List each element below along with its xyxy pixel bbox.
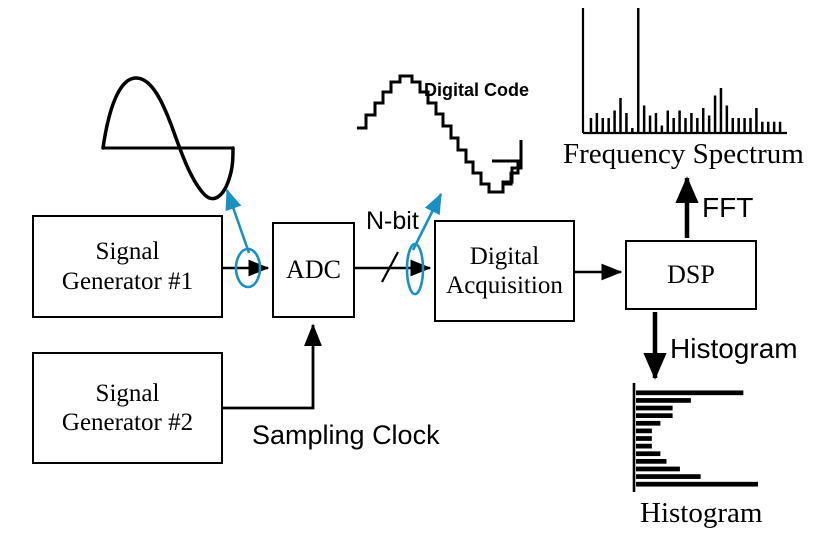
label-histogram-caption: Histogram [640,497,762,530]
histogram-bar [636,421,660,426]
spectrum-bar [672,118,675,133]
spectrum-bar [655,113,658,133]
block-label-line2: Acquisition [446,271,563,301]
spectrum-bar [743,118,746,133]
histogram-bar [636,451,660,456]
spectrum-bar [637,8,640,133]
block-label-line2: Generator #2 [62,408,193,438]
histogram-bars [636,390,758,486]
block-dsp[interactable]: DSP [625,240,757,310]
spectrum-bar [613,111,616,134]
histogram-bar [636,436,652,441]
histogram-bar [636,444,652,449]
annotation-analog-signal[interactable] [227,190,260,287]
histogram-bar [636,467,680,472]
block-label-line1: Signal [96,379,160,409]
block-label-line2: Generator #1 [62,267,193,297]
block-digital-acquisition[interactable]: Digital Acquisition [434,220,575,322]
histogram-bar [636,429,652,434]
spectrum-bar [749,118,752,133]
block-label-line1: ADC [286,255,341,286]
frequency-spectrum-chart [583,8,787,133]
spectrum-bar [726,106,729,134]
histogram-chart [634,383,758,492]
spectrum-bar [661,126,664,134]
frequency-spectrum-bars [590,8,782,133]
spectrum-bar [773,122,776,133]
block-signal-generator-2[interactable]: Signal Generator #2 [32,352,223,464]
histogram-bar [636,482,758,487]
annotation-arrow-analog [227,190,249,253]
spectrum-bar [625,113,628,133]
histogram-bar [636,406,673,411]
spectrum-bar [643,106,646,134]
label-sampling-clock: Sampling Clock [252,420,440,451]
label-n-bit: N-bit [366,207,419,236]
block-signal-generator-1[interactable]: Signal Generator #1 [32,215,223,318]
label-histogram-arrow: Histogram [670,333,798,365]
spectrum-bar [720,88,723,133]
block-label-line1: DSP [667,260,715,291]
spectrum-bar [590,118,593,133]
histogram-bar [636,474,701,479]
input-sine-wave-chart [103,78,233,199]
spectrum-bar [737,118,740,133]
label-fft: FFT [702,192,753,224]
spectrum-bar [755,108,758,133]
spectrum-bar [596,113,599,133]
label-digital-code: Digital Code [424,80,529,101]
spectrum-bar [714,96,717,134]
spectrum-bar [649,116,652,134]
histogram-bar [636,459,667,464]
spectrum-bar [690,113,693,133]
diagram-canvas: Signal Generator #1 Signal Generator #2 … [0,0,824,534]
block-label-line1: Signal [96,237,160,267]
block-label-line1: Digital [470,242,539,272]
spectrum-bar [761,122,764,133]
label-frequency-spectrum: Frequency Spectrum [563,138,804,171]
spectrum-bar [667,111,670,134]
sine-wave-curve [103,78,233,199]
histogram-bar [636,413,673,418]
spectrum-bar [702,108,705,133]
wire-siggen2-to-adc-clock [223,325,313,408]
histogram-bar [636,390,743,395]
spectrum-bar [732,118,735,133]
histogram-bar [636,398,691,403]
spectrum-bar [696,118,699,133]
spectrum-bar [619,98,622,133]
spectrum-bar [684,118,687,133]
spectrum-bar [708,116,711,134]
spectrum-bar [607,118,610,133]
spectrum-bar [779,122,782,133]
spectrum-bar [678,111,681,134]
spectrum-bar [631,128,634,133]
spectrum-bar [602,118,605,133]
block-adc[interactable]: ADC [272,222,355,318]
spectrum-bar [767,122,770,133]
